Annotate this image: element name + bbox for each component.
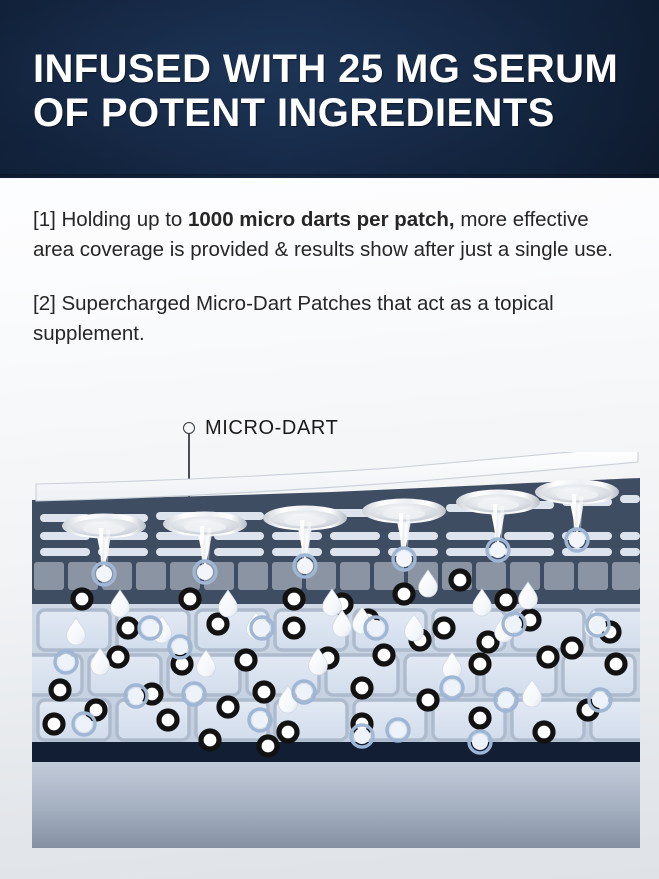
header-banner: INFUSED WITH 25 MG SERUM OF POTENT INGRE… xyxy=(0,0,659,178)
callout-label: MICRO-DART xyxy=(205,417,338,440)
paragraph-1-emphasis: 1000 micro darts per patch, xyxy=(188,208,455,231)
paragraph-2: [2] Supercharged Micro-Dart Patches that… xyxy=(33,289,613,349)
layer-basal-membrane xyxy=(32,742,640,762)
callout-marker-icon xyxy=(183,422,195,434)
layer-dermis xyxy=(32,762,640,848)
header-divider-shadow xyxy=(0,174,659,179)
granular-band xyxy=(32,558,640,592)
infographic-page: INFUSED WITH 25 MG SERUM OF POTENT INGRE… xyxy=(0,0,659,879)
page-title: INFUSED WITH 25 MG SERUM OF POTENT INGRE… xyxy=(33,47,643,135)
skin-cross-section-diagram xyxy=(32,452,640,848)
body-copy: [1] Holding up to 1000 micro darts per p… xyxy=(33,205,613,373)
paragraph-1: [1] Holding up to 1000 micro darts per p… xyxy=(33,205,613,265)
paragraph-1-lead: [1] Holding up to xyxy=(33,208,188,231)
